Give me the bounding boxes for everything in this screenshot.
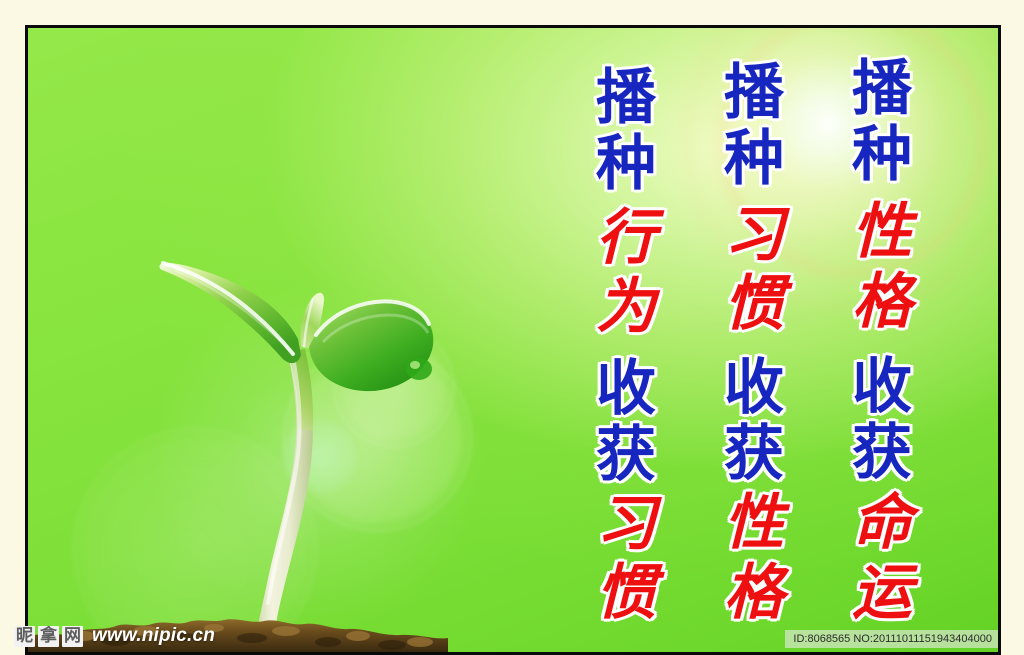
watermark-logo-char: 昵 — [14, 626, 35, 647]
slogan-column-2: 播 种 习 惯 收 获 性 格 — [690, 56, 818, 626]
watermark: 昵 拿 网 www.nipic.cn — [14, 625, 215, 647]
slogan-glyph: 获 — [596, 422, 656, 488]
slogan-glyph: 收 — [724, 355, 784, 421]
watermark-logo-char: 拿 — [38, 626, 59, 647]
poster-image: 播 种 性 格 收 获 命 运 播 种 — [28, 28, 998, 652]
slogan-glyph: 习 — [596, 491, 656, 557]
slogan-glyph: 性 — [724, 490, 784, 556]
slogan-glyph: 为 — [596, 274, 656, 340]
slogan-glyph: 播 — [596, 65, 656, 131]
slogan-glyph: 性 — [852, 199, 912, 265]
watermark-logo: 昵 拿 网 — [14, 626, 83, 647]
slogan-glyph: 播 — [852, 56, 912, 122]
slogan-glyph: 种 — [852, 122, 912, 188]
slogan-glyph: 收 — [596, 356, 656, 422]
watermark-url: www.nipic.cn — [92, 625, 215, 647]
slogan-block: 播 种 性 格 收 获 命 运 播 种 — [528, 56, 968, 626]
slogan-glyph: 播 — [724, 60, 784, 126]
slogan-column-3: 播 种 性 格 收 获 命 运 — [818, 56, 946, 626]
slogan-glyph: 获 — [852, 420, 912, 486]
slogan-glyph: 格 — [724, 560, 784, 626]
slogan-glyph: 种 — [724, 126, 784, 192]
slogan-glyph: 收 — [852, 354, 912, 420]
slogan-glyph: 获 — [724, 421, 784, 487]
slogan-glyph: 行 — [596, 205, 656, 271]
slogan-glyph: 惯 — [724, 271, 784, 337]
slogan-glyph: 格 — [852, 269, 912, 335]
slogan-glyph: 命 — [852, 490, 912, 556]
slogan-column-1: 播 种 行 为 收 获 习 惯 — [562, 56, 690, 626]
slogan-glyph: 习 — [724, 202, 784, 268]
slogan-glyph: 惯 — [596, 560, 656, 626]
seedling-illustration — [123, 243, 503, 643]
slogan-glyph: 运 — [852, 560, 912, 626]
watermark-logo-char: 网 — [62, 626, 83, 647]
poster-frame: 播 种 性 格 收 获 命 运 播 种 — [25, 25, 1001, 655]
slogan-glyph: 种 — [596, 131, 656, 197]
page-background: 播 种 性 格 收 获 命 运 播 种 — [0, 0, 1024, 655]
image-id-strip: ID:8068565 NO:20111011151943404000 — [785, 630, 998, 648]
